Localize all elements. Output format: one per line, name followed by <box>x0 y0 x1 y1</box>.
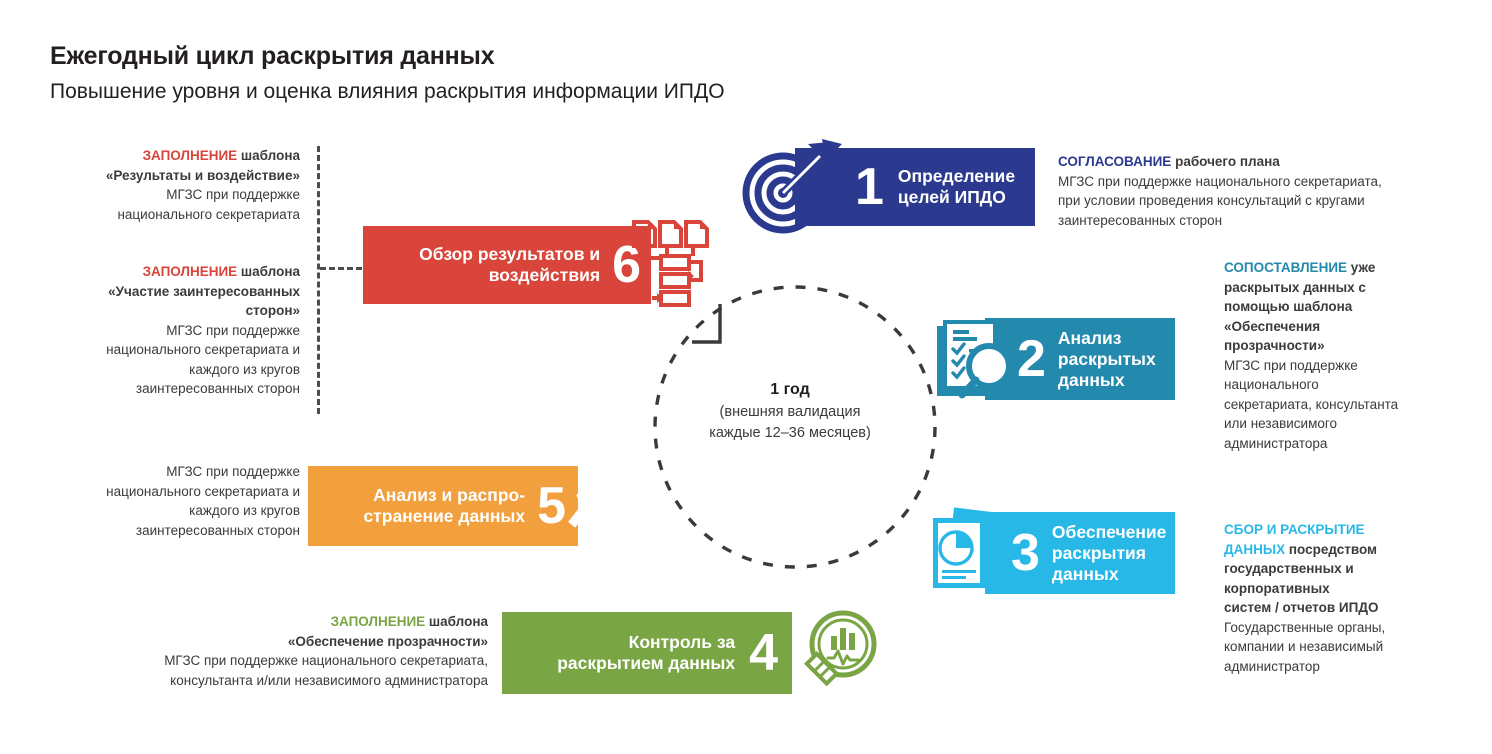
note-right-third-body-line2: компании и независимый <box>1224 637 1476 657</box>
step-1-label-line1: Определение <box>898 166 1015 186</box>
step-2-label-line2: раскрытых <box>1058 349 1156 369</box>
note-bottom-left-accent: ЗАПОЛНЕНИЕ <box>331 614 426 629</box>
note-left-second-head-line3: сторон» <box>28 301 300 321</box>
left-dashed-divider <box>317 146 320 414</box>
note-right-second-body-line2: национального <box>1224 375 1476 395</box>
documents-piechart-icon <box>928 508 1020 598</box>
step-1-number: 1 <box>855 161 884 213</box>
note-right-second-head-line2: раскрытых данных с <box>1224 278 1476 298</box>
step-3-label-line1: Обеспечение <box>1052 522 1166 542</box>
note-left-second: ЗАПОЛНЕНИЕ шаблона «Участие заинтересова… <box>28 262 300 399</box>
note-right-third-head-line4: корпоративных <box>1224 579 1476 599</box>
note-right-top-body-line3: заинтересованных сторон <box>1058 211 1478 231</box>
note-right-second: СОПОСТАВЛЕНИЕ уже раскрытых данных с пом… <box>1224 258 1476 453</box>
note-left-third-body-line3: каждого из кругов <box>28 501 300 521</box>
note-left-second-body-line4: заинтересованных сторон <box>28 379 300 399</box>
note-right-second-head-line5: прозрачности» <box>1224 336 1476 356</box>
step-4-bar[interactable]: Контроль за раскрытием данных 4 <box>502 612 792 694</box>
note-left-top-body-line1: МГЗС при поддержке <box>28 185 300 205</box>
note-bottom-left-body-line1: МГЗС при поддержке национального секрета… <box>60 651 488 671</box>
note-right-top-accent: СОГЛАСОВАНИЕ <box>1058 154 1171 169</box>
note-right-third-head-line3: государственных и <box>1224 559 1476 579</box>
note-right-third-accent2: ДАННЫХ <box>1224 542 1285 557</box>
cycle-note-line1: (внешняя валидация <box>640 402 940 423</box>
note-right-second-body-line5: администратора <box>1224 434 1476 454</box>
left-dashed-connector <box>320 267 362 270</box>
note-left-second-body-line3: каждого из кругов <box>28 360 300 380</box>
note-right-second-head-line3: помощью шаблона <box>1224 297 1476 317</box>
note-left-top-accent: ЗАПОЛНЕНИЕ <box>143 148 238 163</box>
step-1-label-line2: целей ИПДО <box>898 187 1006 207</box>
note-left-top-head-rest: шаблона <box>237 148 300 163</box>
note-left-second-body-line1: МГЗС при поддержке <box>28 321 300 341</box>
note-left-second-head-line2: «Участие заинтересованных <box>28 282 300 302</box>
note-left-third: МГЗС при поддержке национального секрета… <box>28 462 300 540</box>
documents-flow-icon <box>630 216 722 308</box>
note-right-top-head-rest: рабочего плана <box>1171 154 1279 169</box>
note-right-third-accent1: СБОР И РАСКРЫТИЕ <box>1224 522 1365 537</box>
note-left-top: ЗАПОЛНЕНИЕ шаблона «Результаты и воздейс… <box>28 146 300 224</box>
page-title: Ежегодный цикл раскрытия данных <box>50 42 494 71</box>
note-right-top-body-line1: МГЗС при поддержке национального секрета… <box>1058 172 1478 192</box>
note-bottom-left-head-line2: «Обеспечение прозрачности» <box>60 632 488 652</box>
note-left-third-body-line1: МГЗС при поддержке <box>28 462 300 482</box>
note-right-second-body-line4: или независимого <box>1224 414 1476 434</box>
note-right-third-head-rest: посредством <box>1285 542 1377 557</box>
note-left-second-head-rest: шаблона <box>237 264 300 279</box>
note-right-top: СОГЛАСОВАНИЕ рабочего плана МГЗС при под… <box>1058 152 1478 230</box>
step-5-number: 5 <box>537 480 566 532</box>
magnifier-barchart-icon <box>788 606 884 700</box>
note-right-second-head-line4: «Обеспечения <box>1224 317 1476 337</box>
step-4-label-line2: раскрытием данных <box>557 653 735 673</box>
step-5-label-line1: Анализ и распро- <box>373 485 525 505</box>
note-left-third-body-line2: национального секретариата и <box>28 482 300 502</box>
step-5-label-line2: странение данных <box>363 506 525 526</box>
note-right-second-body-line1: МГЗС при поддержке <box>1224 356 1476 376</box>
note-left-top-head-line2: «Результаты и воздействие» <box>28 166 300 186</box>
target-arrow-icon <box>738 138 848 236</box>
note-right-second-head-rest: уже <box>1347 260 1375 275</box>
note-right-second-accent: СОПОСТАВЛЕНИЕ <box>1224 260 1347 275</box>
checklist-magnifier-icon <box>934 316 1026 402</box>
step-2-label-line1: Анализ <box>1058 328 1122 348</box>
step-2-label-line3: данных <box>1058 370 1125 390</box>
page-subtitle: Повышение уровня и оценка влияния раскры… <box>50 80 725 104</box>
note-right-second-body-line3: секретариата, консультанта <box>1224 395 1476 415</box>
note-right-third-body-line3: администратор <box>1224 657 1476 677</box>
step-3-label-line3: данных <box>1052 564 1119 584</box>
note-right-third-head-line5: систем / отчетов ИПДО <box>1224 598 1476 618</box>
cycle-duration: 1 год <box>640 378 940 402</box>
note-bottom-left-head-rest: шаблона <box>425 614 488 629</box>
step-6-bar[interactable]: Обзор результатов и воздействия 6 <box>363 226 651 304</box>
step-4-label-line1: Контроль за <box>629 632 735 652</box>
step-4-number: 4 <box>749 627 778 679</box>
cycle-note-line2: каждые 12–36 месяцев) <box>640 423 940 444</box>
step-6-label-line2: воздействия <box>489 265 600 285</box>
cycle-center-label: 1 год (внешняя валидация каждые 12–36 ме… <box>640 378 940 444</box>
step-6-label-line1: Обзор результатов и <box>419 244 600 264</box>
note-left-second-accent: ЗАПОЛНЕНИЕ <box>143 264 238 279</box>
note-bottom-left: ЗАПОЛНЕНИЕ шаблона «Обеспечение прозрачн… <box>60 612 488 690</box>
note-bottom-left-body-line2: консультанта и/или независимого админист… <box>60 671 488 691</box>
step-5-bar[interactable]: Анализ и распро- странение данных 5 <box>308 466 578 546</box>
note-right-top-body-line2: при условии проведения консультаций с кр… <box>1058 191 1478 211</box>
megaphone-icon <box>566 458 646 554</box>
step-3-label-line2: раскрытия <box>1052 543 1146 563</box>
note-right-third-body-line1: Государственные органы, <box>1224 618 1476 638</box>
note-left-second-body-line2: национального секретариата и <box>28 340 300 360</box>
note-left-third-body-line4: заинтересованных сторон <box>28 521 300 541</box>
note-right-third: СБОР И РАСКРЫТИЕ ДАННЫХ посредством госу… <box>1224 520 1476 676</box>
note-left-top-body-line2: национального секретариата <box>28 205 300 225</box>
